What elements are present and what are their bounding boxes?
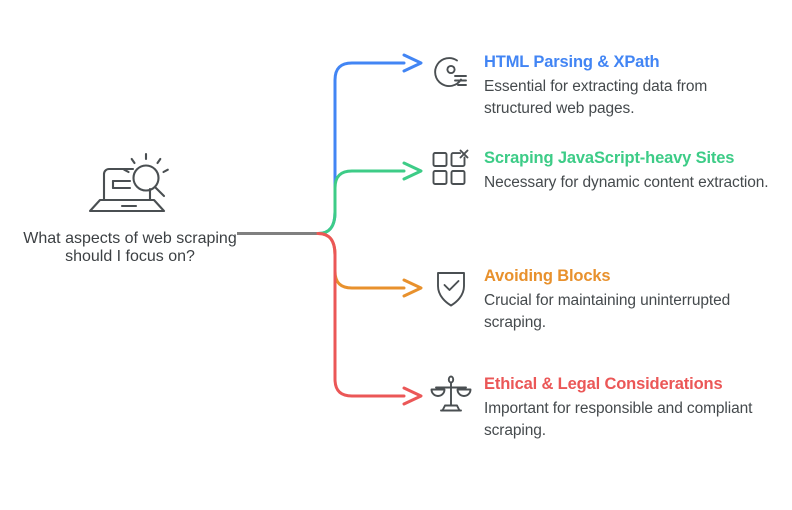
branch-description: Important for responsible and compliant … bbox=[484, 398, 774, 442]
arrowhead-1 bbox=[404, 55, 421, 71]
data-disc-icon bbox=[430, 52, 472, 94]
connector-line-3 bbox=[318, 234, 404, 289]
branch-title: HTML Parsing & XPath bbox=[484, 52, 774, 73]
branch-node-ethical-legal[interactable]: Ethical & Legal Considerations Important… bbox=[430, 374, 774, 442]
arrowhead-2 bbox=[404, 163, 421, 179]
shield-check-icon bbox=[430, 266, 472, 308]
branch-description: Necessary for dynamic content extraction… bbox=[484, 172, 774, 194]
branch-node-html-parsing[interactable]: HTML Parsing & XPath Essential for extra… bbox=[430, 52, 774, 120]
diagram-canvas: What aspects of web scraping should I fo… bbox=[0, 0, 792, 510]
branch-text-block: HTML Parsing & XPath Essential for extra… bbox=[484, 52, 774, 120]
branch-description: Essential for extracting data from struc… bbox=[484, 76, 774, 120]
root-node[interactable]: What aspects of web scraping should I fo… bbox=[22, 148, 238, 266]
arrowhead-3 bbox=[404, 280, 421, 296]
branch-node-javascript-sites[interactable]: Scraping JavaScript-heavy Sites Necessar… bbox=[430, 148, 774, 194]
branch-title: Scraping JavaScript-heavy Sites bbox=[484, 148, 774, 169]
branch-node-avoiding-blocks[interactable]: Avoiding Blocks Crucial for maintaining … bbox=[430, 266, 774, 334]
branch-text-block: Ethical & Legal Considerations Important… bbox=[484, 374, 774, 442]
connector-line-1 bbox=[318, 63, 404, 234]
connector-line-4 bbox=[318, 234, 404, 397]
connector-line-2 bbox=[318, 171, 404, 234]
root-label: What aspects of web scraping should I fo… bbox=[22, 230, 238, 266]
arrowhead-4 bbox=[404, 388, 421, 404]
grid-squares-close-icon bbox=[430, 148, 472, 190]
branch-text-block: Avoiding Blocks Crucial for maintaining … bbox=[484, 266, 774, 334]
branch-title: Avoiding Blocks bbox=[484, 266, 774, 287]
branch-description: Crucial for maintaining uninterrupted sc… bbox=[484, 290, 774, 334]
laptop-search-icon bbox=[82, 148, 178, 220]
branch-title: Ethical & Legal Considerations bbox=[484, 374, 774, 395]
branch-text-block: Scraping JavaScript-heavy Sites Necessar… bbox=[484, 148, 774, 194]
balance-scales-icon bbox=[430, 374, 472, 416]
